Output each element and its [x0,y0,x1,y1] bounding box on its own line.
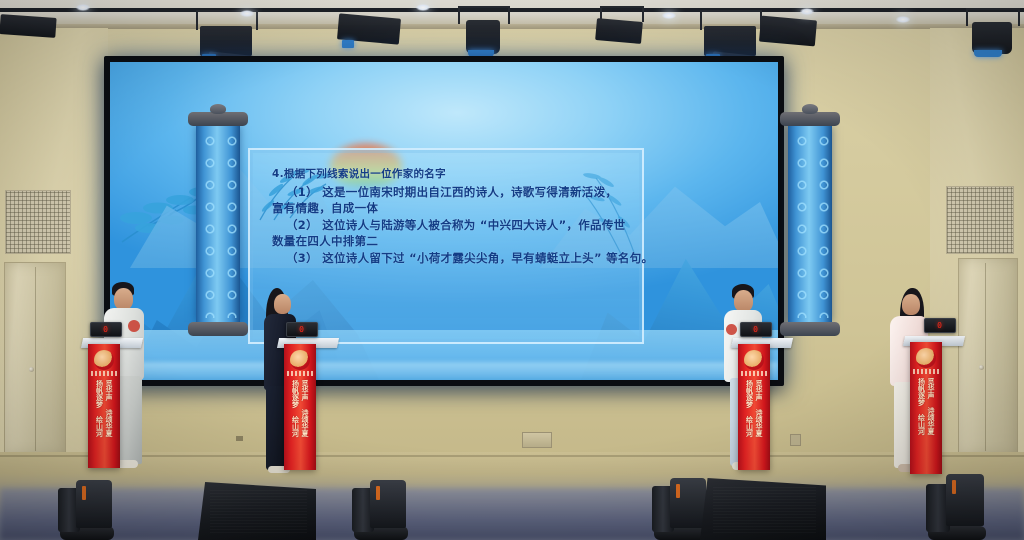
banner-line-left: 扬帆逐梦 绘山河 [745,380,754,466]
podium-banner-1: 觅华声 诗颂华夏 扬帆逐梦 绘山河 [88,344,120,468]
ceiling-downlight-1 [240,10,254,17]
decorative-column-right [788,126,832,322]
banner-line-left: 扬帆逐梦 绘山河 [95,380,104,464]
banner-line-left: 扬帆逐梦 绘山河 [917,378,926,470]
podium-3[interactable]: 觅华声 诗颂华夏 扬帆逐梦 绘山河 [732,338,794,472]
score-value-4: 0 [937,322,943,330]
question-clue-2: （2） 这位诗人与陆游等人被合称为 “中兴四大诗人”，作品传世 [272,217,628,234]
column-finial [802,104,818,114]
wall-mark [236,436,243,441]
banner-brand-strip [91,371,117,376]
question-text-block: 4.根据下列线索说出一位作家的名字 （1） 这是一位南宋时期出自江西的诗人，诗歌… [272,166,628,266]
score-display-2: 0 [286,322,318,337]
banner-line-right: 觅华声 诗颂华夏 [301,380,310,466]
door-seam [35,267,36,451]
stage-floor-reflection [0,488,1024,540]
banner-line-left: 扬帆逐梦 绘山河 [291,380,300,466]
column-finial [210,104,226,114]
ceiling-downlight-3 [662,12,676,19]
ceiling-downlight-6 [800,8,814,15]
head [734,290,753,312]
door-seam [985,263,986,451]
column-base [780,322,840,336]
door-knob-icon [979,365,984,370]
score-value-2: 0 [299,326,305,334]
floor-monitor-speaker-2 [700,478,826,540]
door-right[interactable] [958,258,1018,456]
podium-banner-3: 觅华声 诗颂华夏 扬帆逐梦 绘山河 [738,344,770,470]
moving-head-light-1 [54,474,120,540]
question-clue-3: （3） 这位诗人留下过 “小荷才露尖尖角，早有蜻蜓立上头” 等名句。 [272,250,628,267]
question-clue-1-cont: 富有情趣，自成一体 [272,200,628,217]
ceiling-edge-trim [0,24,1024,29]
speaker-grill [713,487,816,533]
banner-seal-icon [94,350,114,370]
number-badge [128,320,140,332]
moving-head-light-4 [922,470,992,540]
score-display-1: 0 [90,322,122,337]
door-left[interactable] [4,262,66,456]
banner-text: 觅华声 诗颂华夏 扬帆逐梦 绘山河 [738,380,770,466]
banner-line-right: 觅华声 诗颂华夏 [105,380,114,464]
moving-head-light-2 [348,474,414,540]
score-display-3: 0 [740,322,772,337]
podium-2[interactable]: 觅华声 诗颂华夏 扬帆逐梦 绘山河 [278,338,340,472]
stage-scene: 4.根据下列线索说出一位作家的名字 （1） 这是一位南宋时期出自江西的诗人，诗歌… [0,0,1024,540]
ceiling-downlight-5 [76,4,90,11]
banner-line-right: 觅华声 诗颂华夏 [927,378,936,470]
cloud-swirl-pattern [791,130,829,318]
head [114,288,133,310]
banner-brand-strip [913,369,939,374]
lighting-truss-bar [0,8,1024,12]
score-value-3: 0 [753,326,759,334]
head [274,294,291,314]
air-vent-grille-right [946,186,1014,254]
banner-seal-icon [290,350,310,370]
cloud-swirl-pattern [199,130,237,318]
podium-banner-2: 觅华声 诗颂华夏 扬帆逐梦 绘山河 [284,344,316,470]
banner-text: 觅华声 诗颂华夏 扬帆逐梦 绘山河 [910,378,942,470]
head [902,294,920,315]
ceiling-downlight-4 [896,16,910,23]
banner-seal-icon [916,348,936,368]
water-highlight-band [110,362,778,380]
banner-text: 觅华声 诗颂华夏 扬帆逐梦 绘山河 [284,380,316,466]
banner-brand-strip [287,371,313,376]
question-heading: 4.根据下列线索说出一位作家的名字 [272,166,628,183]
podium-4[interactable]: 觅华声 诗颂华夏 扬帆逐梦 绘山河 [904,336,966,476]
number-badge [726,324,737,335]
banner-seal-icon [744,350,764,370]
ceiling [0,0,1024,26]
podium-1[interactable]: 觅华声 诗颂华夏 扬帆逐梦 绘山河 [82,338,144,472]
score-value-1: 0 [103,326,109,334]
question-clue-1: （1） 这是一位南宋时期出自江西的诗人，诗歌写得清新活泼， [272,184,628,201]
banner-line-right: 觅华声 诗颂华夏 [755,380,764,466]
door-knob-icon [29,367,34,372]
speaker-grill [210,490,307,533]
column-cap [780,112,840,126]
banner-text: 觅华声 诗颂华夏 扬帆逐梦 绘山河 [88,380,120,464]
floor-monitor-speaker-1 [198,482,316,540]
column-base [188,322,248,336]
air-vent-grille-left [5,190,71,254]
column-cap [188,112,248,126]
av-wall-panel[interactable] [522,432,552,448]
ceiling-downlight-2 [416,4,430,11]
podium-banner-4: 觅华声 诗颂华夏 扬帆逐梦 绘山河 [910,342,942,474]
decorative-column-left [196,126,240,322]
banner-brand-strip [741,371,767,376]
question-clue-2-cont: 数量在四人中排第二 [272,233,628,250]
score-display-4: 0 [924,318,956,333]
